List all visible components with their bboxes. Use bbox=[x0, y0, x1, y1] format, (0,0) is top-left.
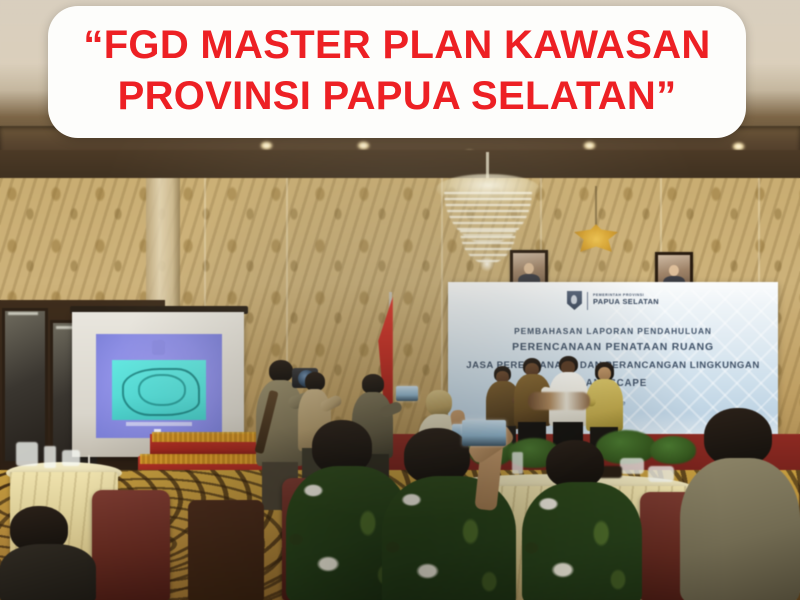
person-seated-khaki-right bbox=[680, 408, 800, 600]
glassware bbox=[44, 446, 56, 468]
backdrop-line-2: PERENCANAAN PENATAAN RUANG bbox=[448, 342, 778, 353]
handshake-cluster bbox=[528, 392, 590, 410]
backdrop-logo-row: PEMERINTAH PROVINSI PAPUA SELATAN bbox=[448, 291, 778, 310]
downlight bbox=[583, 141, 596, 150]
slide-crest-icon bbox=[152, 340, 165, 355]
napkin bbox=[648, 466, 674, 482]
province-crest-icon bbox=[567, 291, 582, 310]
person-military-right bbox=[522, 440, 642, 600]
phone-screen bbox=[396, 386, 418, 401]
chair bbox=[92, 490, 170, 600]
logo-divider bbox=[587, 292, 588, 310]
chair bbox=[188, 500, 264, 600]
downlight bbox=[357, 141, 370, 150]
slide-caption-bar bbox=[126, 422, 192, 426]
person-military-center bbox=[382, 428, 516, 600]
glassware bbox=[16, 442, 38, 466]
person-foreground-dark-left bbox=[0, 506, 96, 600]
emblem-cord bbox=[595, 186, 597, 226]
caption-banner: “FGD MASTER PLAN KAWASAN PROVINSI PAPUA … bbox=[48, 6, 746, 138]
glassware bbox=[62, 450, 80, 466]
map-inner-outline bbox=[138, 374, 186, 406]
window-pane bbox=[2, 308, 48, 464]
slide-map-graphic bbox=[112, 360, 206, 420]
phone-screen bbox=[462, 420, 506, 446]
caption-line-1: “FGD MASTER PLAN KAWASAN bbox=[66, 20, 728, 71]
screenshot-root: PEMERINTAH PROVINSI PAPUA SELATAN PEMBAH… bbox=[0, 0, 800, 600]
caption-line-2: PROVINSI PAPUA SELATAN” bbox=[66, 71, 728, 122]
backdrop-province-label: PAPUA SELATAN bbox=[593, 298, 659, 306]
backdrop-line-1: PEMBAHASAN LAPORAN PENDAHULUAN bbox=[448, 326, 778, 336]
window-glint bbox=[8, 312, 38, 315]
projected-slide bbox=[96, 334, 222, 438]
downlight bbox=[260, 141, 273, 150]
